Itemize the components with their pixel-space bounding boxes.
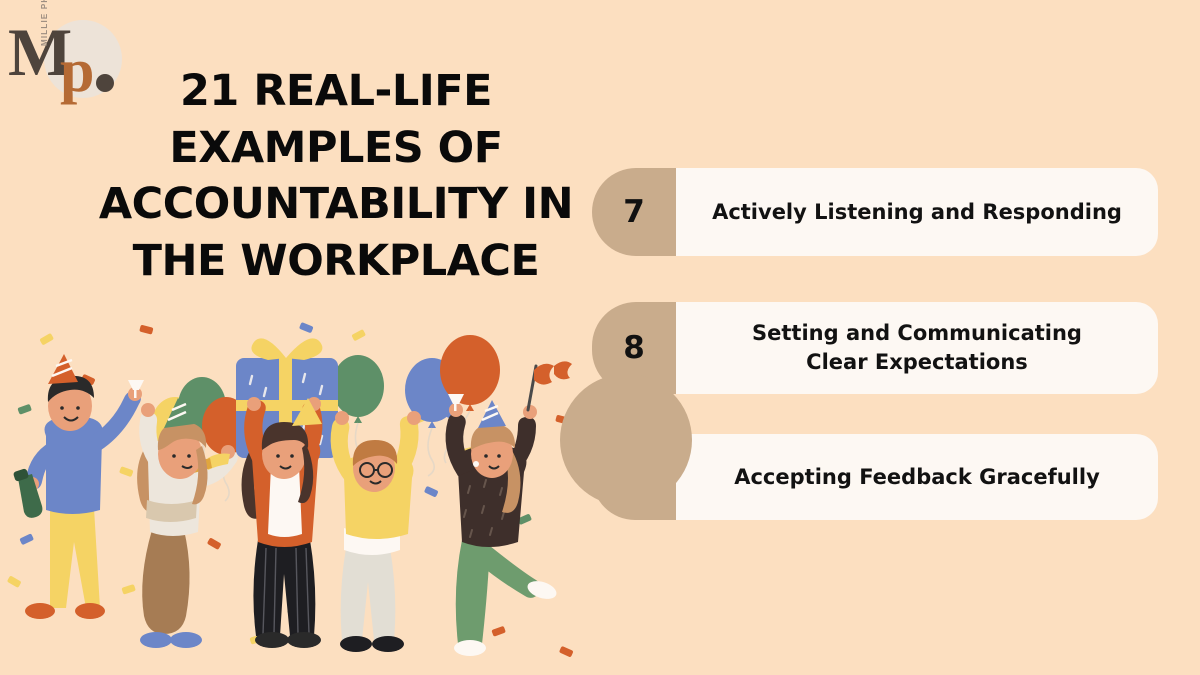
person-blue-sweater xyxy=(13,354,144,619)
poster-canvas: M p MILLIE PHAM 21 REAL-LIFE EXAMPLES OF… xyxy=(0,0,1200,675)
list-item-label: Actively Listening and Responding xyxy=(676,168,1158,256)
balloon-green-single xyxy=(332,355,384,417)
list-item: 8 Setting and Communicating Clear Expect… xyxy=(592,302,1158,394)
list-item-label: Accepting Feedback Gracefully xyxy=(676,434,1158,520)
decorative-circle xyxy=(560,374,692,506)
person-orange-coat xyxy=(242,397,323,648)
person-yellow-sweater xyxy=(331,411,421,652)
logo-brand-name: MILLIE PHAM xyxy=(40,0,49,46)
celebration-illustration xyxy=(0,318,600,675)
page-title: 21 REAL-LIFE EXAMPLES OF ACCOUNTABILITY … xyxy=(88,63,584,290)
list-item-number-badge: 7 xyxy=(592,168,676,256)
list-item: 7 Actively Listening and Responding xyxy=(592,168,1158,256)
person-green-pants xyxy=(446,361,572,656)
list-item-label: Setting and Communicating Clear Expectat… xyxy=(676,302,1158,394)
celebration-illustration-svg xyxy=(0,318,600,675)
